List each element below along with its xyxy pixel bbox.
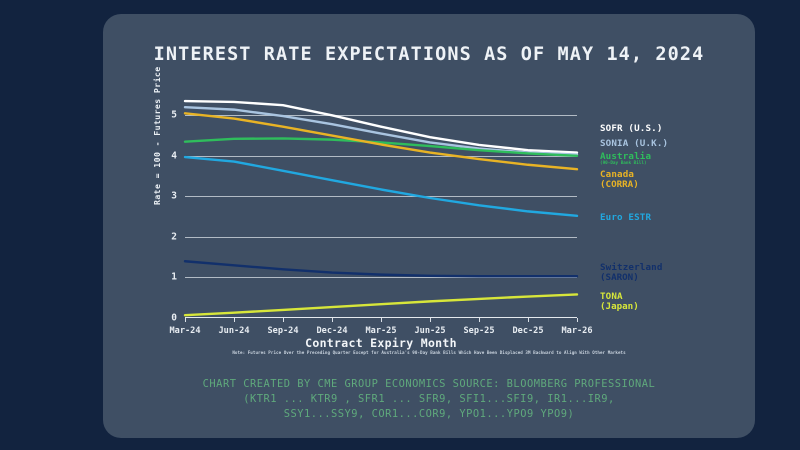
legend-item-sublabel: (Japan)	[600, 302, 639, 312]
x-tick-mark	[283, 318, 284, 322]
x-tick-label: Jun-24	[218, 326, 249, 336]
x-tick-mark	[528, 318, 529, 322]
x-tick-label: Dec-24	[316, 326, 347, 336]
chart-title: INTEREST RATE EXPECTATIONS AS OF MAY 14,…	[103, 44, 755, 65]
chart-credit: CHART CREATED BY CME GROUP ECONOMICS SOU…	[113, 377, 745, 422]
series-line	[185, 157, 577, 216]
x-tick-label: Jun-25	[414, 326, 445, 336]
series-line	[185, 138, 577, 155]
chart-footnote: Note: Futures Price Over the Preceding Q…	[113, 350, 745, 355]
legend-item[interactable]: SONIA (U.K.)	[600, 139, 668, 149]
x-tick-label: Mar-25	[365, 326, 396, 336]
legend-item[interactable]: Euro ESTR	[600, 213, 651, 223]
legend-item-label: Euro ESTR	[600, 212, 651, 223]
legend-item-sublabel: (90-Day Bank Bill)	[600, 162, 651, 167]
legend-item[interactable]: Canada(CORRA)	[600, 170, 639, 190]
series-line	[185, 113, 577, 169]
y-axis-label: Rate = 100 - Futures Price	[152, 66, 162, 205]
x-axis-label: Contract Expiry Month	[185, 336, 577, 350]
x-tick-mark	[185, 318, 186, 322]
series-lines	[185, 93, 577, 318]
legend-item[interactable]: TONA(Japan)	[600, 292, 639, 312]
legend-item[interactable]: Australia(90-Day Bank Bill)	[600, 152, 651, 167]
legend-item[interactable]: SOFR (U.S.)	[600, 124, 663, 134]
legend-item-label: SONIA (U.K.)	[600, 138, 668, 149]
x-tick-label: Sep-24	[267, 326, 298, 336]
y-tick-label: 2	[171, 231, 177, 242]
y-tick-label: 1	[171, 272, 177, 283]
x-tick-mark	[430, 318, 431, 322]
legend-item-sublabel: (CORRA)	[600, 180, 639, 190]
legend-item-sublabel: (SARON)	[600, 273, 663, 283]
series-line	[185, 294, 577, 315]
x-tick-mark	[381, 318, 382, 322]
x-tick-label: Mar-26	[561, 326, 592, 336]
chart-screenshot: INTEREST RATE EXPECTATIONS AS OF MAY 14,…	[0, 0, 800, 450]
series-line	[185, 107, 577, 154]
x-tick-mark	[332, 318, 333, 322]
legend-item[interactable]: Switzerland(SARON)	[600, 263, 663, 283]
credit-line-3: SSY1...SSY9, COR1...COR9, YPO1...YPO9 YP…	[113, 407, 745, 422]
x-tick-mark	[234, 318, 235, 322]
x-tick-label: Mar-24	[169, 326, 200, 336]
series-line	[185, 261, 577, 276]
y-tick-label: 0	[171, 313, 177, 324]
credit-line-1: CHART CREATED BY CME GROUP ECONOMICS SOU…	[113, 377, 745, 392]
x-tick-mark	[479, 318, 480, 322]
y-tick-label: 5	[171, 110, 177, 121]
credit-line-2: (KTR1 ... KTR9 , SFR1 ... SFR9, SFI1...S…	[113, 392, 745, 407]
y-tick-label: 3	[171, 191, 177, 202]
x-tick-label: Dec-25	[512, 326, 543, 336]
y-tick-label: 4	[171, 150, 177, 161]
x-tick-label: Sep-25	[463, 326, 494, 336]
x-tick-mark	[577, 318, 578, 322]
legend-item-label: SOFR (U.S.)	[600, 123, 663, 134]
plot-area: 012345 Mar-24Jun-24Sep-24Dec-24Mar-25Jun…	[185, 93, 577, 318]
